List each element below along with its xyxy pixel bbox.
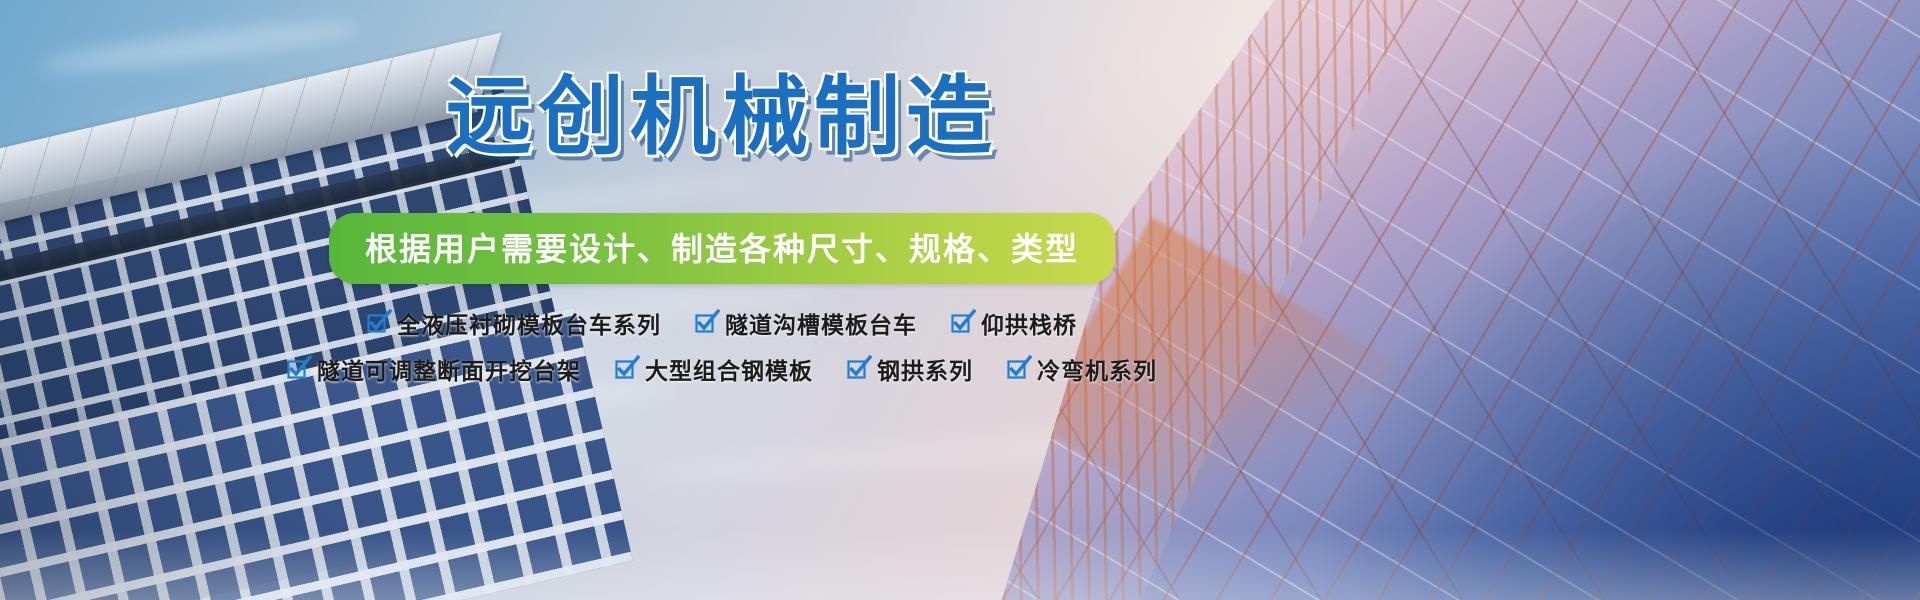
banner-content: 远创机械制造 根据用户需要设计、制造各种尺寸、规格、类型 全液压衬砌模板台车系列: [0, 0, 1920, 600]
feature-label: 隧道沟槽模板台车: [725, 306, 917, 340]
feature-item[interactable]: 冷弯机系列: [1007, 352, 1157, 386]
feature-list-row-1: 全液压衬砌模板台车系列 隧道沟槽模板台车 仰拱栈: [0, 306, 1444, 340]
check-box-icon: [695, 313, 716, 334]
feature-item[interactable]: 仰拱栈桥: [951, 306, 1077, 340]
subtitle-pill: 根据用户需要设计、制造各种尺寸、规格、类型: [329, 213, 1115, 284]
feature-label: 钢拱系列: [877, 352, 973, 386]
check-box-icon: [287, 359, 308, 380]
feature-list-row-2: 隧道可调整断面开挖台架 大型组合钢模板 钢拱系列: [0, 352, 1444, 386]
feature-item[interactable]: 大型组合钢模板: [615, 352, 813, 386]
feature-label: 隧道可调整断面开挖台架: [317, 352, 581, 386]
check-box-icon: [615, 359, 636, 380]
check-box-icon: [847, 359, 868, 380]
feature-item[interactable]: 钢拱系列: [847, 352, 973, 386]
feature-item[interactable]: 隧道沟槽模板台车: [695, 306, 917, 340]
promo-banner: 远创机械制造 根据用户需要设计、制造各种尺寸、规格、类型 全液压衬砌模板台车系列: [0, 0, 1920, 600]
check-box-icon: [1007, 359, 1028, 380]
check-box-icon: [367, 313, 388, 334]
subtitle-bar-wrapper: 根据用户需要设计、制造各种尺寸、规格、类型: [0, 213, 1444, 284]
feature-label: 全液压衬砌模板台车系列: [397, 306, 661, 340]
check-box-icon: [951, 313, 972, 334]
feature-item[interactable]: 全液压衬砌模板台车系列: [367, 306, 661, 340]
feature-label: 大型组合钢模板: [645, 352, 813, 386]
feature-item[interactable]: 隧道可调整断面开挖台架: [287, 352, 581, 386]
banner-headline: 远创机械制造: [0, 74, 1444, 160]
feature-label: 仰拱栈桥: [981, 306, 1077, 340]
feature-label: 冷弯机系列: [1037, 352, 1157, 386]
